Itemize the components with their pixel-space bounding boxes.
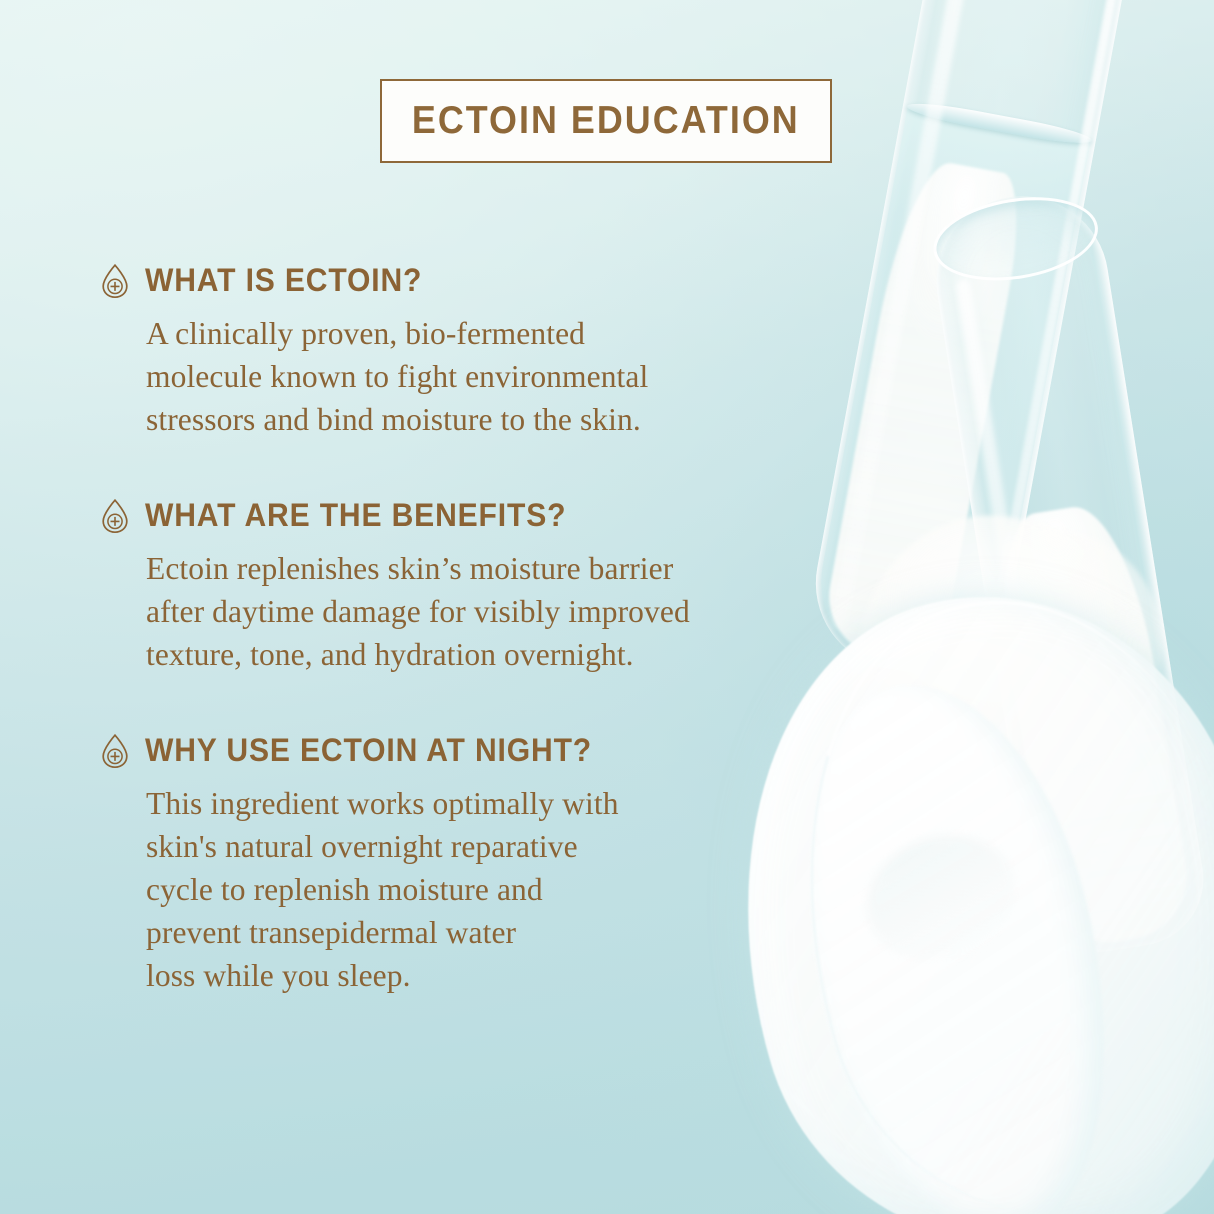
faq-body: This ingredient works optimally with ski…	[100, 782, 860, 997]
ectoin-education-infographic: ECTOIN EDUCATION WHAT IS ECTOIN? A clini…	[0, 0, 1214, 1214]
faq-body: A clinically proven, bio-fermented molec…	[100, 312, 860, 441]
faq-heading-row: WHAT ARE THE BENEFITS?	[100, 497, 860, 534]
faq-heading-row: WHY USE ECTOIN AT NIGHT?	[100, 732, 860, 769]
faq-item-what-are-the-benefits: WHAT ARE THE BENEFITS? Ectoin replenishe…	[100, 497, 860, 676]
page-title: ECTOIN EDUCATION	[412, 99, 800, 143]
faq-heading: WHAT ARE THE BENEFITS?	[145, 497, 566, 534]
faq-list: WHAT IS ECTOIN? A clinically proven, bio…	[100, 262, 860, 1041]
water-drop-plus-icon	[100, 733, 130, 769]
faq-heading: WHY USE ECTOIN AT NIGHT?	[145, 732, 592, 769]
faq-body: Ectoin replenishes skin’s moisture barri…	[100, 547, 860, 676]
faq-item-what-is-ectoin: WHAT IS ECTOIN? A clinically proven, bio…	[100, 262, 860, 441]
faq-heading-row: WHAT IS ECTOIN?	[100, 262, 860, 299]
water-drop-plus-icon	[100, 498, 130, 534]
faq-heading: WHAT IS ECTOIN?	[145, 262, 422, 299]
page-title-banner: ECTOIN EDUCATION	[380, 79, 832, 163]
water-drop-plus-icon	[100, 263, 130, 299]
faq-item-why-use-ectoin-at-night: WHY USE ECTOIN AT NIGHT? This ingredient…	[100, 732, 860, 997]
